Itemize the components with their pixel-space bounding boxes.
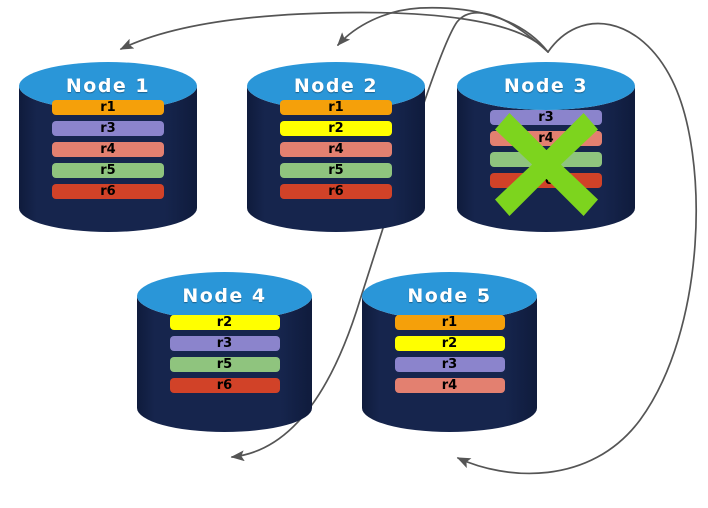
- replica-r6[interactable]: r6: [490, 173, 602, 188]
- diagram-canvas: Node 1r1r3r4r5r6Node 2r1r2r4r5r6Node 3r3…: [0, 0, 708, 508]
- replica-r4[interactable]: r4: [280, 142, 392, 157]
- replica-r4[interactable]: r4: [52, 142, 164, 157]
- cylinder-top: [362, 272, 537, 320]
- replica-r4[interactable]: r4: [490, 131, 602, 146]
- replica-r1[interactable]: r1: [395, 315, 505, 330]
- node-2-replica-list: r1r2r4r5r6: [247, 100, 425, 199]
- replica-r3[interactable]: r3: [170, 336, 280, 351]
- node-1-replica-list: r1r3r4r5r6: [19, 100, 197, 199]
- replica-r5[interactable]: r5: [52, 163, 164, 178]
- node-5-replica-list: r1r2r3r4: [362, 315, 537, 393]
- replica-r5[interactable]: r5: [280, 163, 392, 178]
- node-2[interactable]: Node 2r1r2r4r5r6: [247, 62, 425, 232]
- replica-r3[interactable]: r3: [490, 110, 602, 125]
- arrow-node3-to-node2: [338, 8, 548, 52]
- replica-r6[interactable]: r6: [52, 184, 164, 199]
- replica-r2[interactable]: r2: [170, 315, 280, 330]
- replica-r1[interactable]: r1: [52, 100, 164, 115]
- replica-r5[interactable]: r5: [170, 357, 280, 372]
- node-5[interactable]: Node 5r1r2r3r4: [362, 272, 537, 432]
- node-1[interactable]: Node 1r1r3r4r5r6: [19, 62, 197, 232]
- node-4-replica-list: r2r3r5r6: [137, 315, 312, 393]
- replica-r1[interactable]: r1: [280, 100, 392, 115]
- node-4[interactable]: Node 4r2r3r5r6: [137, 272, 312, 432]
- replica-r4[interactable]: r4: [395, 378, 505, 393]
- replica-r2[interactable]: r2: [395, 336, 505, 351]
- replica-r3[interactable]: r3: [52, 121, 164, 136]
- replica-r6[interactable]: r6: [280, 184, 392, 199]
- replica-r2[interactable]: r2: [280, 121, 392, 136]
- cylinder-top: [137, 272, 312, 320]
- arrow-node3-to-node1: [121, 13, 548, 52]
- replica-r6[interactable]: r6: [170, 378, 280, 393]
- node-3-replica-list: r3r4r5r6: [457, 110, 635, 188]
- replica-r3[interactable]: r3: [395, 357, 505, 372]
- cylinder-top: [457, 62, 635, 110]
- replica-r5[interactable]: r5: [490, 152, 602, 167]
- node-3[interactable]: Node 3r3r4r5r6: [457, 62, 635, 232]
